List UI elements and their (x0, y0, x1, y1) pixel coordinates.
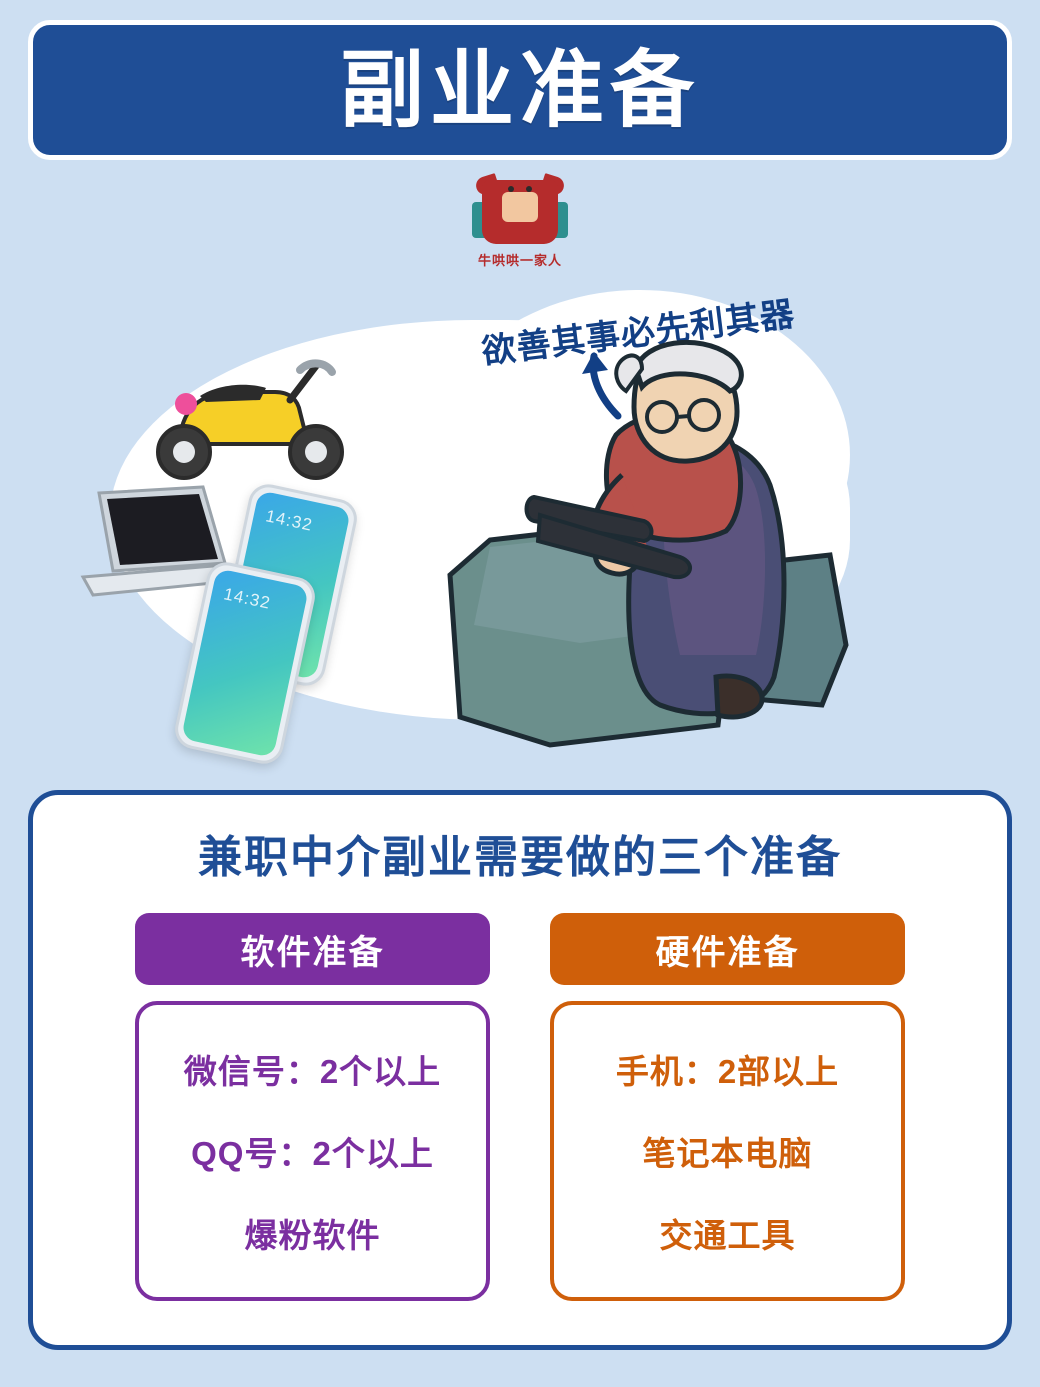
phone-clock-1: 14:32 (264, 506, 315, 535)
column-header-hardware: 硬件准备 (550, 913, 905, 985)
list-item: 微信号：2个以上 (184, 1045, 441, 1093)
column-software: 软件准备 微信号：2个以上 QQ号：2个以上 爆粉软件 (135, 913, 490, 1301)
column-body-hardware: 手机：2部以上 笔记本电脑 交通工具 (550, 1001, 905, 1301)
list-item: QQ号：2个以上 (191, 1127, 434, 1175)
poster-page: 副业准备 牛哄哄一家人 欲善其事必先利其器 (0, 0, 1040, 1387)
card-title: 兼职中介副业需要做的三个准备 (33, 821, 1007, 885)
title-banner: 副业准备 (28, 20, 1012, 160)
scooter-icon (140, 340, 370, 490)
cow-logo-icon (472, 176, 568, 248)
blacksmith-illustration (430, 325, 860, 765)
logo-caption: 牛哄哄一家人 (478, 250, 562, 269)
column-body-software: 微信号：2个以上 QQ号：2个以上 爆粉软件 (135, 1001, 490, 1301)
card-columns: 软件准备 微信号：2个以上 QQ号：2个以上 爆粉软件 硬件准备 手机：2部以上… (33, 913, 1007, 1301)
brand-logo: 牛哄哄一家人 (460, 176, 580, 272)
list-item: 交通工具 (660, 1209, 796, 1257)
column-hardware: 硬件准备 手机：2部以上 笔记本电脑 交通工具 (550, 913, 905, 1301)
page-title: 副业准备 (340, 48, 700, 132)
column-header-software: 软件准备 (135, 913, 490, 985)
phone-clock-2: 14:32 (222, 584, 273, 613)
list-item: 爆粉软件 (245, 1209, 381, 1257)
list-item: 手机：2部以上 (616, 1045, 839, 1093)
info-card: 兼职中介副业需要做的三个准备 软件准备 微信号：2个以上 QQ号：2个以上 爆粉… (28, 790, 1012, 1350)
illustration-area: 欲善其事必先利其器 14:32 (0, 280, 1040, 780)
list-item: 笔记本电脑 (643, 1127, 813, 1175)
